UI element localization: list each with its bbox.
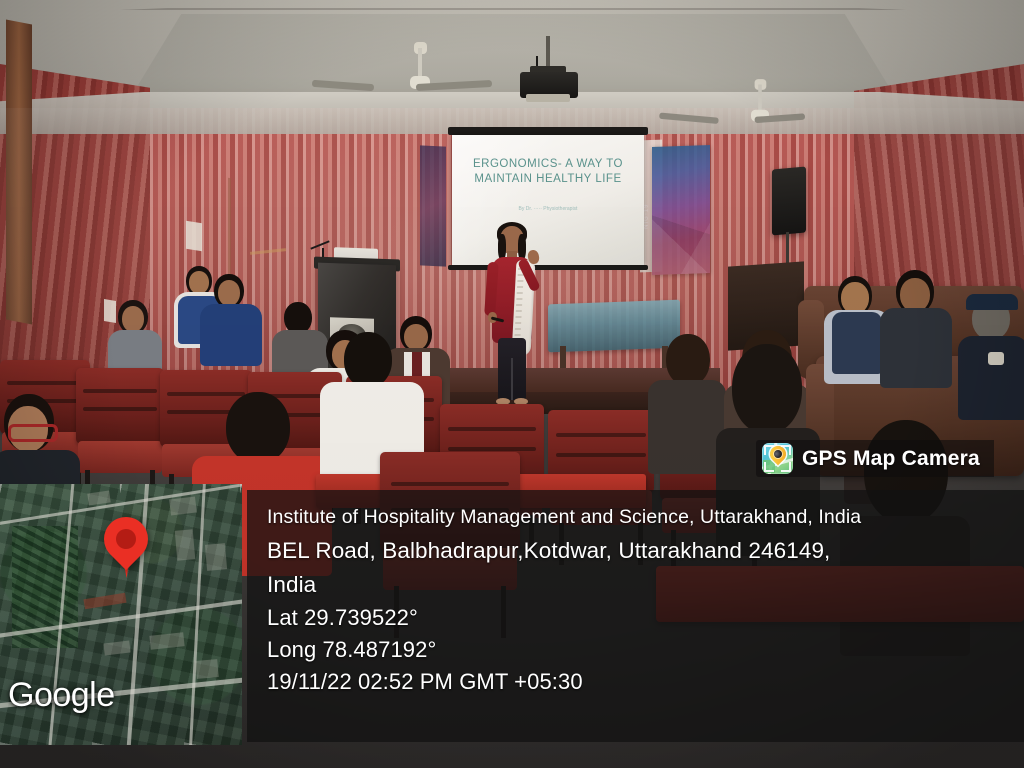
presenter bbox=[486, 226, 538, 416]
audience-member bbox=[200, 274, 262, 364]
slide-title: ERGONOMICS- A WAY TO MAINTAIN HEALTHY LI… bbox=[460, 157, 636, 187]
google-watermark: Google bbox=[8, 676, 115, 715]
location-info-panel: Institute of Hospitality Management and … bbox=[247, 490, 1024, 742]
cap bbox=[966, 294, 1018, 310]
gps-map-camera-photo: NIG-19 ERGONOMICS- A WAY TO MAINTAIN HEA… bbox=[0, 0, 1024, 768]
wall-banner: NIG-19 bbox=[652, 145, 710, 275]
gps-map-camera-app-icon bbox=[762, 443, 793, 474]
screen-roller bbox=[448, 127, 648, 135]
eyeglasses bbox=[8, 424, 58, 442]
ceiling-fan bbox=[360, 48, 480, 98]
audience-member bbox=[958, 294, 1024, 414]
slide-subtitle: By Dr. ····· Physiotherapist bbox=[460, 205, 636, 213]
gps-map-camera-badge: GPS Map Camera bbox=[756, 440, 994, 477]
screen-weight-bar bbox=[448, 265, 648, 270]
audience-member bbox=[648, 334, 726, 464]
app-name-label: GPS Map Camera bbox=[802, 447, 980, 471]
latitude-value: Lat 29.739522° bbox=[267, 602, 1024, 634]
screen-surface: ERGONOMICS- A WAY TO MAINTAIN HEALTHY LI… bbox=[452, 135, 644, 265]
longitude-value: Long 78.487192° bbox=[267, 634, 1024, 666]
banner-pattern bbox=[652, 145, 710, 275]
ceiling-projector bbox=[512, 36, 582, 106]
place-name: Institute of Hospitality Management and … bbox=[267, 504, 1024, 530]
map-thumbnail[interactable]: Google bbox=[0, 484, 242, 745]
seat-chair bbox=[76, 368, 164, 490]
wall-speaker bbox=[772, 167, 806, 236]
address-line-2: India bbox=[267, 568, 1024, 602]
wall-poster-left bbox=[420, 145, 446, 266]
wall-notice bbox=[186, 221, 202, 252]
audience-member bbox=[880, 270, 952, 382]
projection-screen: ERGONOMICS- A WAY TO MAINTAIN HEALTHY LI… bbox=[452, 133, 644, 271]
wristwatch bbox=[988, 352, 1004, 365]
address-line-1: BEL Road, Balbhadrapur,Kotdwar, Uttarakh… bbox=[267, 534, 1024, 568]
ceiling-fan bbox=[706, 85, 814, 130]
banner-label: NIG-19 bbox=[644, 203, 650, 229]
screen-glare bbox=[452, 135, 644, 265]
ceiling-seam bbox=[120, 8, 906, 10]
timestamp-value: 19/11/22 02:52 PM GMT +05:30 bbox=[267, 666, 1024, 698]
